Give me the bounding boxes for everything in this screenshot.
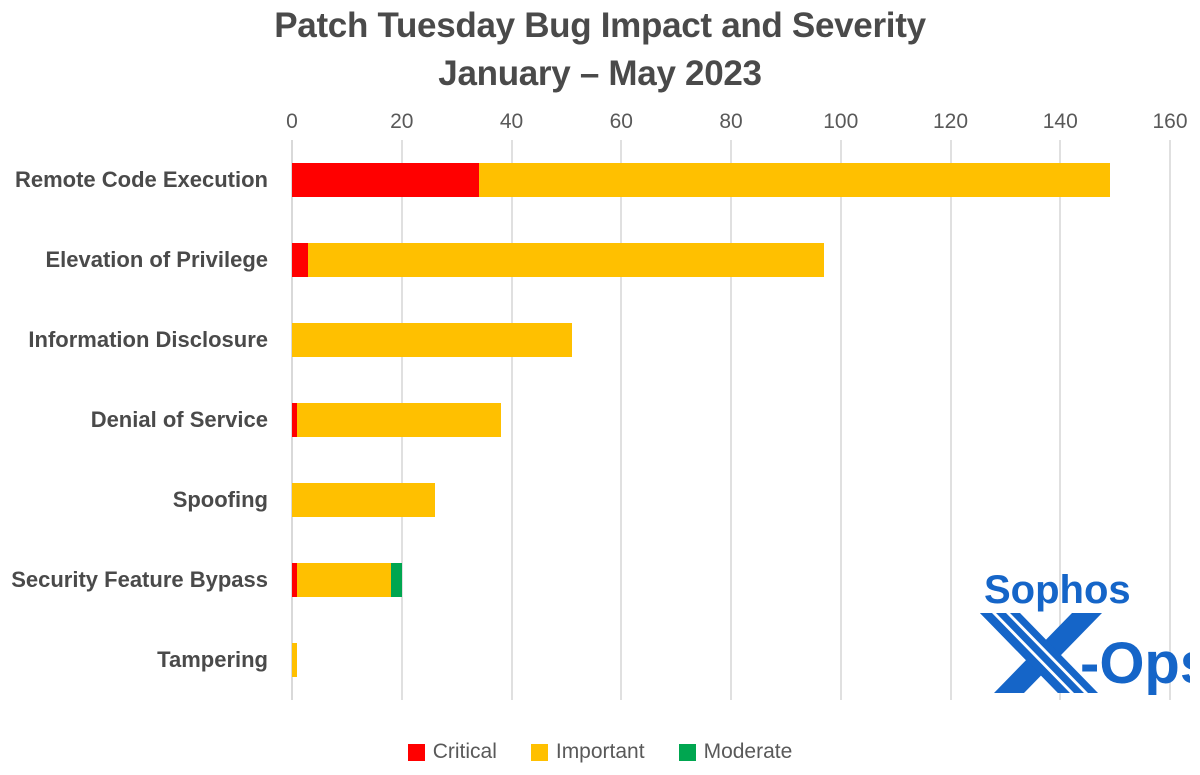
legend-swatch-icon bbox=[531, 744, 548, 761]
x-axis-tick-40: 40 bbox=[500, 110, 523, 134]
y-axis-label-5: Security Feature Bypass bbox=[11, 567, 268, 593]
gridline-40 bbox=[511, 140, 513, 700]
legend-label: Moderate bbox=[704, 740, 793, 764]
logo-brand-text: Sophos bbox=[984, 568, 1131, 612]
bar-segment-important[interactable] bbox=[308, 243, 824, 277]
y-axis-label-3: Denial of Service bbox=[91, 407, 268, 433]
y-axis-label-4: Spoofing bbox=[173, 487, 268, 513]
bar-row[interactable] bbox=[292, 163, 1110, 197]
legend-item-critical[interactable]: Critical bbox=[408, 740, 497, 764]
y-axis-category-labels: Remote Code ExecutionElevation of Privil… bbox=[0, 140, 278, 700]
bar-segment-important[interactable] bbox=[297, 403, 500, 437]
bar-row[interactable] bbox=[292, 643, 297, 677]
x-axis-tick-labels: 020406080100120140160 bbox=[292, 110, 1170, 136]
x-axis-tick-100: 100 bbox=[823, 110, 858, 134]
y-axis-label-1: Elevation of Privilege bbox=[45, 247, 268, 273]
legend-swatch-icon bbox=[679, 744, 696, 761]
x-axis-tick-120: 120 bbox=[933, 110, 968, 134]
bar-segment-important[interactable] bbox=[292, 643, 297, 677]
bar-segment-important[interactable] bbox=[292, 323, 572, 357]
chart-title-line-2: January – May 2023 bbox=[0, 50, 1200, 98]
legend-label: Critical bbox=[433, 740, 497, 764]
bar-segment-important[interactable] bbox=[292, 483, 435, 517]
bar-row[interactable] bbox=[292, 243, 824, 277]
x-axis-tick-60: 60 bbox=[610, 110, 633, 134]
chart-title: Patch Tuesday Bug Impact and Severity Ja… bbox=[0, 0, 1200, 98]
y-axis-label-0: Remote Code Execution bbox=[15, 167, 268, 193]
gridline-120 bbox=[950, 140, 952, 700]
logo-product-text: -Ops bbox=[1080, 631, 1190, 696]
gridline-60 bbox=[620, 140, 622, 700]
x-axis-tick-80: 80 bbox=[719, 110, 742, 134]
bar-segment-critical[interactable] bbox=[292, 163, 479, 197]
chart-container: Patch Tuesday Bug Impact and Severity Ja… bbox=[0, 0, 1200, 775]
y-axis-label-6: Tampering bbox=[157, 647, 268, 673]
bar-segment-critical[interactable] bbox=[292, 243, 308, 277]
x-axis-tick-140: 140 bbox=[1043, 110, 1078, 134]
bar-row[interactable] bbox=[292, 323, 572, 357]
x-axis-tick-20: 20 bbox=[390, 110, 413, 134]
bar-segment-moderate[interactable] bbox=[391, 563, 402, 597]
bar-row[interactable] bbox=[292, 563, 402, 597]
sophos-x-ops-logo-icon: Sophos -Ops bbox=[972, 565, 1190, 700]
chart-title-line-1: Patch Tuesday Bug Impact and Severity bbox=[0, 2, 1200, 50]
gridline-80 bbox=[730, 140, 732, 700]
chart-legend: CriticalImportantModerate bbox=[0, 740, 1200, 764]
bar-segment-important[interactable] bbox=[297, 563, 390, 597]
legend-swatch-icon bbox=[408, 744, 425, 761]
bar-segment-important[interactable] bbox=[479, 163, 1110, 197]
bar-row[interactable] bbox=[292, 483, 435, 517]
legend-item-moderate[interactable]: Moderate bbox=[679, 740, 793, 764]
gridline-100 bbox=[840, 140, 842, 700]
bar-row[interactable] bbox=[292, 403, 501, 437]
x-axis-tick-0: 0 bbox=[286, 110, 298, 134]
legend-item-important[interactable]: Important bbox=[531, 740, 645, 764]
sophos-x-ops-logo: Sophos -Ops bbox=[972, 565, 1190, 700]
legend-label: Important bbox=[556, 740, 645, 764]
y-axis-label-2: Information Disclosure bbox=[28, 327, 268, 353]
x-axis-tick-160: 160 bbox=[1152, 110, 1187, 134]
